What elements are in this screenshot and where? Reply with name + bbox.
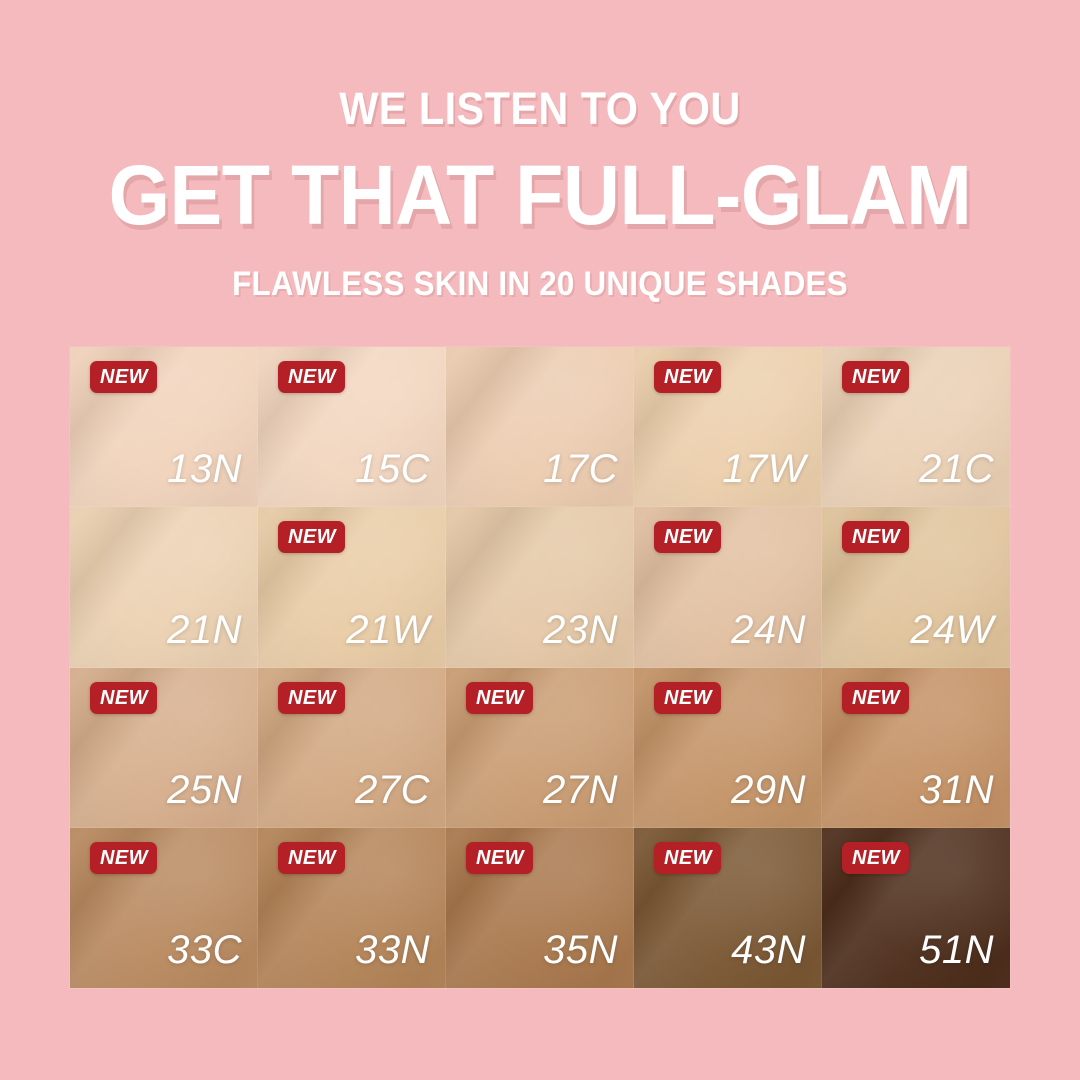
shade-swatch[interactable]: NEW13N xyxy=(70,347,258,507)
shade-swatch[interactable]: NEW27C xyxy=(258,668,446,828)
new-badge: NEW xyxy=(466,842,533,874)
shade-code-label: 21N xyxy=(167,610,242,650)
shade-code-label: 33C xyxy=(167,930,242,970)
shade-swatch[interactable]: 17C xyxy=(446,347,634,507)
shade-code-label: 13N xyxy=(167,449,242,489)
shade-code-label: 25N xyxy=(167,770,242,810)
shade-code-label: 23N xyxy=(543,610,618,650)
shade-swatch[interactable]: NEW43N xyxy=(634,828,822,988)
shade-swatch[interactable]: NEW17W xyxy=(634,347,822,507)
new-badge: NEW xyxy=(654,361,721,393)
header-subline: FLAWLESS SKIN IN 20 UNIQUE SHADES xyxy=(43,267,1037,301)
new-badge: NEW xyxy=(278,682,345,714)
promo-header: WE LISTEN TO YOU GET THAT FULL-GLAM FLAW… xyxy=(0,0,1080,301)
new-badge: NEW xyxy=(654,842,721,874)
new-badge: NEW xyxy=(90,361,157,393)
shade-swatch[interactable]: NEW51N xyxy=(822,828,1010,988)
shade-code-label: 51N xyxy=(919,930,994,970)
header-headline: GET THAT FULL-GLAM xyxy=(32,153,1047,237)
new-badge: NEW xyxy=(842,361,909,393)
shade-swatch[interactable]: NEW24N xyxy=(634,507,822,667)
shade-swatch-grid: NEW13NNEW15C17CNEW17WNEW21C21NNEW21W23NN… xyxy=(70,347,1010,988)
shade-code-label: 29N xyxy=(731,770,806,810)
shade-code-label: 21C xyxy=(919,449,994,489)
new-badge: NEW xyxy=(278,842,345,874)
shade-swatch[interactable]: NEW15C xyxy=(258,347,446,507)
new-badge: NEW xyxy=(278,361,345,393)
shade-code-label: 17W xyxy=(722,449,806,489)
shade-code-label: 27C xyxy=(355,770,430,810)
new-badge: NEW xyxy=(842,521,909,553)
new-badge: NEW xyxy=(90,682,157,714)
header-eyebrow: WE LISTEN TO YOU xyxy=(43,86,1037,131)
shade-swatch[interactable]: NEW33C xyxy=(70,828,258,988)
shade-code-label: 15C xyxy=(355,449,430,489)
shade-swatch[interactable]: 23N xyxy=(446,507,634,667)
shade-code-label: 27N xyxy=(543,770,618,810)
new-badge: NEW xyxy=(90,842,157,874)
shade-code-label: 24N xyxy=(731,610,806,650)
shade-code-label: 21W xyxy=(346,610,430,650)
shade-swatch[interactable]: NEW24W xyxy=(822,507,1010,667)
new-badge: NEW xyxy=(654,521,721,553)
new-badge: NEW xyxy=(654,682,721,714)
shade-code-label: 33N xyxy=(355,930,430,970)
shade-code-label: 17C xyxy=(543,449,618,489)
shade-code-label: 31N xyxy=(919,770,994,810)
shade-swatch[interactable]: NEW27N xyxy=(446,668,634,828)
shade-swatch[interactable]: NEW33N xyxy=(258,828,446,988)
shade-swatch[interactable]: NEW25N xyxy=(70,668,258,828)
shade-swatch[interactable]: NEW21C xyxy=(822,347,1010,507)
shade-code-label: 35N xyxy=(543,930,618,970)
new-badge: NEW xyxy=(466,682,533,714)
new-badge: NEW xyxy=(842,842,909,874)
shade-swatch[interactable]: NEW35N xyxy=(446,828,634,988)
shade-code-label: 24W xyxy=(910,610,994,650)
shade-swatch[interactable]: NEW29N xyxy=(634,668,822,828)
shade-swatch[interactable]: 21N xyxy=(70,507,258,667)
shade-swatch[interactable]: NEW21W xyxy=(258,507,446,667)
new-badge: NEW xyxy=(278,521,345,553)
shade-code-label: 43N xyxy=(731,930,806,970)
shade-swatch[interactable]: NEW31N xyxy=(822,668,1010,828)
new-badge: NEW xyxy=(842,682,909,714)
